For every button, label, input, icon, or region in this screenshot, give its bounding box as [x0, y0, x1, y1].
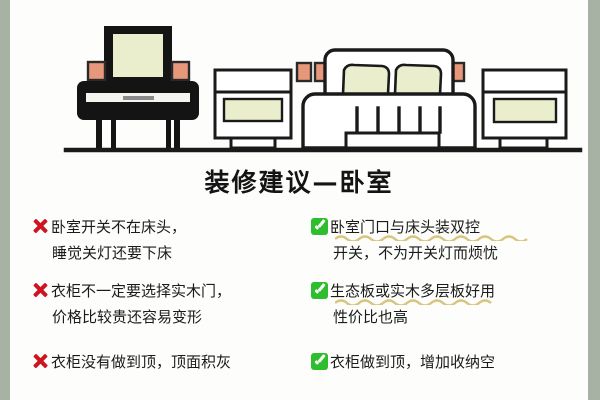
bed-foot-panel [346, 133, 439, 148]
page-title: 装修建议—卧室 [10, 160, 588, 208]
check-icon [311, 282, 328, 299]
accent-box-1 [88, 62, 105, 80]
column-negative: 卧室开关不在床头， 睡觉关灯还要下床 衣柜不一定要选择实木门， 价格比较贵还容易… [10, 206, 299, 400]
list-item[interactable]: 衣柜做到顶，增加收纳空 [311, 349, 582, 375]
x-icon [30, 351, 50, 371]
screenshot-root: 装修建议—卧室 卧室开关不在床头， 睡觉关灯还要下床 衣柜不一定要选择实木门， … [0, 0, 600, 400]
check-icon [311, 218, 328, 235]
list-item[interactable]: 卧室开关不在床头， 睡觉关灯还要下床 [30, 214, 293, 266]
advice-line: 衣柜做到顶，增加收纳空 [311, 349, 582, 375]
content-card: 装修建议—卧室 卧室开关不在床头， 睡觉关灯还要下床 衣柜不一定要选择实木门， … [10, 0, 588, 400]
advice-line: 价格比较贵还容易变形 [30, 304, 293, 330]
list-item[interactable]: 生态板或实木多层板好用 性价比也高 [311, 278, 582, 330]
advice-line: 生态板或实木多层板好用 [311, 278, 582, 304]
vanity-stool-leg-left [111, 114, 116, 148]
vanity-mirror-glass [113, 34, 163, 77]
bedroom-illustration [10, 0, 588, 160]
advice-line: 衣柜没有做到顶，顶面积灰 [30, 349, 293, 375]
right-nightstand-base [500, 138, 547, 148]
advice-line: 开关，不为开关灯而烦忧 [311, 240, 582, 266]
accent-box-3 [297, 63, 311, 81]
bed-pillow-left [343, 65, 389, 94]
advice-line: 卧室门口与床头装双控 [311, 214, 582, 240]
column-positive: 卧室门口与床头装双控 开关，不为开关灯而烦忧 生态板或实木多层板好用 性价比也高… [299, 206, 588, 400]
bed-pillow-right [395, 65, 441, 94]
vanity-leg-left [96, 113, 102, 149]
advice-line: 睡觉关灯还要下床 [30, 240, 293, 266]
x-icon [30, 280, 50, 300]
check-icon [311, 353, 328, 370]
right-nightstand-drawer-panel [494, 99, 556, 122]
advice-line: 衣柜不一定要选择实木门， [30, 278, 293, 304]
list-item[interactable]: 卧室门口与床头装双控 开关，不为开关灯而烦忧 [311, 214, 582, 266]
left-nightstand-base [231, 138, 275, 148]
list-item[interactable]: 衣柜没有做到顶，顶面积灰 [30, 349, 293, 375]
left-nightstand-drawer-panel [224, 99, 282, 121]
advice-line: 卧室开关不在床头， [30, 214, 293, 240]
advice-line: 性价比也高 [311, 304, 582, 330]
vanity-stool-leg-right [166, 114, 171, 148]
illustration-svg [10, 0, 588, 160]
list-item[interactable]: 衣柜不一定要选择实木门， 价格比较贵还容易变形 [30, 278, 293, 330]
accent-box-2 [172, 62, 189, 80]
vanity-leg-right [174, 113, 180, 149]
advice-columns: 卧室开关不在床头， 睡觉关灯还要下床 衣柜不一定要选择实木门， 价格比较贵还容易… [10, 206, 588, 400]
x-icon [30, 216, 50, 236]
vanity-drawer-handle [123, 96, 154, 100]
